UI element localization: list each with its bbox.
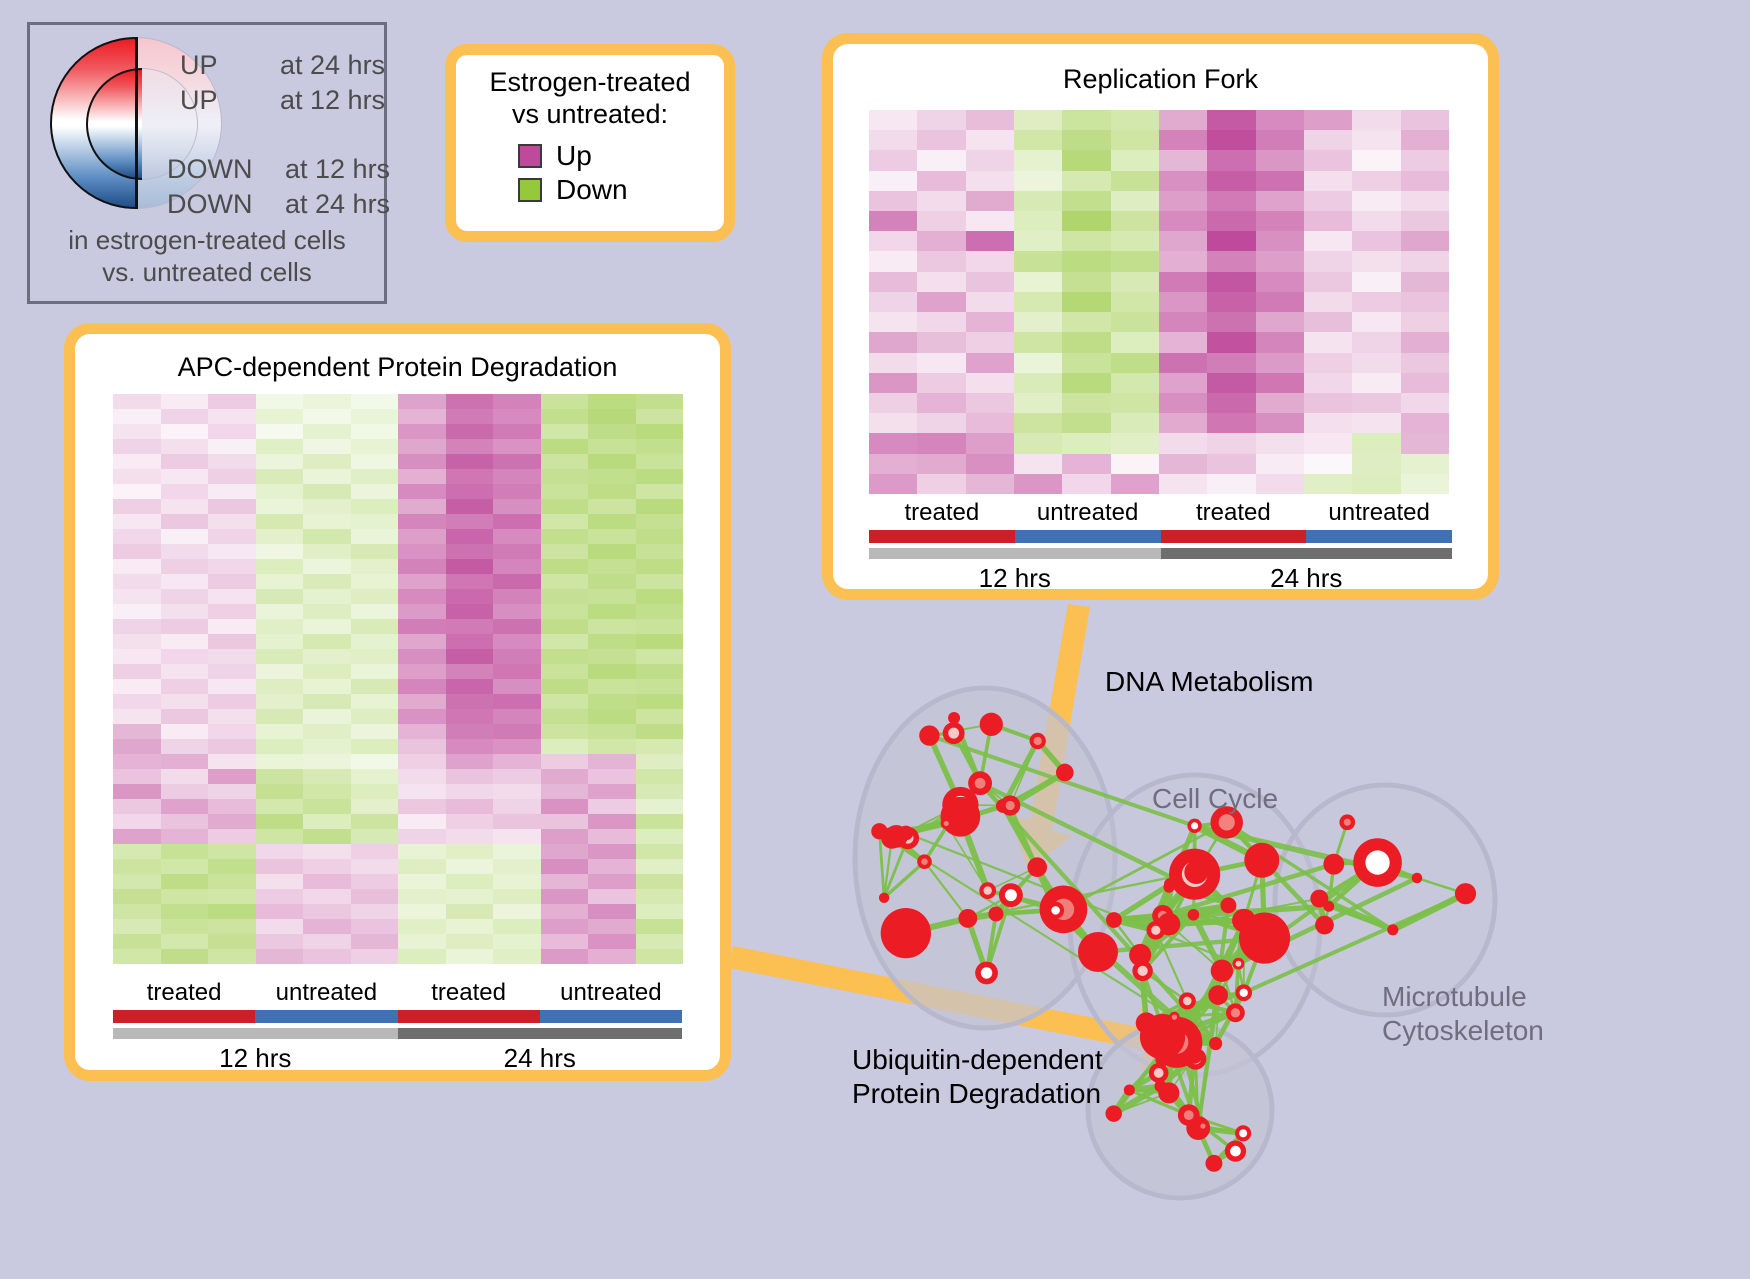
heatmap-cell [588,409,636,424]
heatmap-cell [161,769,209,784]
network-node-core [975,778,986,789]
network-node-core [1183,997,1192,1006]
heatmap-cell [351,844,399,859]
heatmap-cell [1256,110,1304,130]
heatmap-cell [541,949,589,964]
heatmap-cell [398,574,446,589]
heatmap-cell [256,499,304,514]
heatmap-cell [917,130,965,150]
heatmap-cell [161,634,209,649]
heatmap-cell [161,874,209,889]
heatmap-cell [541,859,589,874]
heatmap-cell [917,454,965,474]
heatmap-cell [541,814,589,829]
network-node-core [1344,819,1351,826]
heatmap-cell [1014,251,1062,271]
heatmap-cell [1062,312,1110,332]
heatmap-cell [1014,150,1062,170]
heatmap-cell [1352,231,1400,251]
heatmap-cell [1111,353,1159,373]
heatmap-cell [113,499,161,514]
heatmap-cell [303,559,351,574]
heatmap-cell [303,934,351,949]
heatmap-cell [588,559,636,574]
heatmap-cell [303,919,351,934]
heatmap-cell [256,694,304,709]
heatmap-cell [351,604,399,619]
heatmap-cell [303,889,351,904]
network-node-core [1184,1110,1194,1120]
heatmap-cell [256,424,304,439]
network-node [1154,1080,1166,1092]
heatmap-cell [1111,191,1159,211]
heatmap-cell [1111,251,1159,271]
heatmap-cell [398,604,446,619]
heatmap-cell [636,754,684,769]
heatmap-cell [1401,150,1449,170]
heatmap-cell [636,949,684,964]
down-label: Down [556,174,628,206]
heatmap-cell [303,694,351,709]
heatmap-cell [113,469,161,484]
network-node [1056,764,1074,782]
heatmap-cell [1207,433,1255,453]
heatmap-cell [208,949,256,964]
heatmap-cell [446,934,494,949]
heatmap-cell [869,251,917,271]
heatmap-cell [966,211,1014,231]
heatmap-cell [398,739,446,754]
heatmap-cell [869,191,917,211]
network-node [1315,916,1334,935]
network-node [1249,919,1268,938]
heatmap-cell [493,574,541,589]
heatmap-cell [113,439,161,454]
heatmap-cell [588,529,636,544]
expression-legend-title-line1: Estrogen-treated [456,67,724,99]
network-node-core [1137,966,1147,976]
apc-bar-12hrs [113,1028,398,1039]
heatmap-cell [398,619,446,634]
heatmap-cell [636,589,684,604]
heatmap-cell [398,859,446,874]
heatmap-cell [256,514,304,529]
heatmap-cell [351,694,399,709]
heatmap-cell [636,889,684,904]
heatmap-cell [541,904,589,919]
heatmap-cell [161,544,209,559]
heatmap-cell [966,171,1014,191]
rf-bar-12hrs [869,548,1161,559]
heatmap-cell [208,724,256,739]
heatmap-cell [1014,332,1062,352]
heatmap-cell [113,679,161,694]
heatmap-cell [161,829,209,844]
heatmap-cell [1207,272,1255,292]
heatmap-cell [636,604,684,619]
heatmap-cell [398,529,446,544]
heatmap-cell [113,694,161,709]
heatmap-cell [1401,474,1449,494]
heatmap-cell [869,353,917,373]
heatmap-cell [541,529,589,544]
cluster-label-cell-cycle: Cell Cycle [1152,783,1278,815]
network-node [1164,878,1176,890]
heatmap-cell [1256,130,1304,150]
heatmap-cell [113,484,161,499]
rf-group-label-3: untreated [1306,499,1452,527]
apc-bar-treated-24 [398,1010,540,1023]
heatmap-cell [1159,433,1207,453]
heatmap-cell [208,694,256,709]
heatmap-cell [1111,171,1159,191]
heatmap-cell [303,799,351,814]
heatmap-cell [398,409,446,424]
heatmap-cell [1062,413,1110,433]
rf-bar-24hrs [1161,548,1453,559]
heatmap-cell [1352,110,1400,130]
heatmap-cell [113,424,161,439]
heatmap-cell [1014,393,1062,413]
network-node-core [1235,961,1241,967]
heatmap-cell [208,439,256,454]
heatmap-cell [256,454,304,469]
heatmap-cell [1111,130,1159,150]
heatmap-cell [1014,353,1062,373]
heatmap-cell [588,694,636,709]
heatmap-cell [1256,474,1304,494]
heatmap-cell [1304,150,1352,170]
heatmap-cell [588,784,636,799]
heatmap-cell [541,784,589,799]
network-node-core [1006,801,1015,810]
heatmap-cell [351,649,399,664]
heatmap-cell [588,709,636,724]
heatmap-cell [588,394,636,409]
heatmap-cell [256,859,304,874]
heatmap-cell [113,619,161,634]
heatmap-cell [256,919,304,934]
heatmap-cell [1159,393,1207,413]
network-node-core [1239,1129,1247,1137]
rf-group-labels: treated untreated treated untreated [869,499,1452,527]
heatmap-cell [917,292,965,312]
heatmap-cell [1256,272,1304,292]
rf-time-labels: 12 hrs 24 hrs [869,563,1452,594]
heatmap-cell [1352,373,1400,393]
heatmap-cell [869,373,917,393]
heatmap-cell [541,694,589,709]
heatmap-cell [636,439,684,454]
heatmap-cell [1014,373,1062,393]
heatmap-cell [256,829,304,844]
network-node [1078,932,1118,972]
heatmap-cell [113,889,161,904]
network-node [1387,924,1398,935]
heatmap-cell [493,949,541,964]
heatmap-cell [303,709,351,724]
heatmap-cell [256,934,304,949]
heatmap-cell [398,844,446,859]
cluster-label-dna-metabolism: DNA Metabolism [1105,666,1314,698]
heatmap-cell [208,484,256,499]
heatmap-cell [541,889,589,904]
network-node-core [944,821,949,826]
heatmap-cell [917,251,965,271]
colorbar-row-2-direction: DOWN [167,154,252,185]
heatmap-cell [208,889,256,904]
heatmap-cell [636,619,684,634]
heatmap-cell [966,110,1014,130]
heatmap-cell [256,769,304,784]
network-node-core [1051,906,1060,915]
network-node [881,908,931,958]
heatmap-cell [161,394,209,409]
heatmap-cell [208,409,256,424]
heatmap-cell [966,312,1014,332]
heatmap-cell [303,544,351,559]
heatmap-cell [1111,332,1159,352]
heatmap-cell [1256,454,1304,474]
heatmap-cell [1014,191,1062,211]
heatmap-cell [1159,332,1207,352]
heatmap-cell [1159,110,1207,130]
heatmap-cell [256,784,304,799]
heatmap-cell [208,709,256,724]
heatmap-cell [1111,150,1159,170]
heatmap-cell [493,769,541,784]
heatmap-cell [541,709,589,724]
heatmap-cell [446,529,494,544]
heatmap-cell [1159,251,1207,271]
heatmap-cell [966,332,1014,352]
heatmap-cell [869,211,917,231]
up-label: Up [556,140,592,172]
heatmap-cell [588,769,636,784]
heatmap-cell [1111,110,1159,130]
heatmap-cell [161,919,209,934]
colorbar-row-3-direction: DOWN [167,189,252,220]
heatmap-cell [161,904,209,919]
apc-degradation-heatmap [113,394,683,964]
heatmap-cell [161,859,209,874]
heatmap-cell [869,413,917,433]
network-node [1310,890,1328,908]
heatmap-cell [303,634,351,649]
heatmap-cell [208,934,256,949]
heatmap-cell [351,784,399,799]
heatmap-cell [208,529,256,544]
heatmap-cell [1304,231,1352,251]
heatmap-cell [1401,130,1449,150]
heatmap-cell [161,694,209,709]
heatmap-cell [398,424,446,439]
heatmap-cell [493,499,541,514]
heatmap-cell [446,859,494,874]
heatmap-cell [636,814,684,829]
heatmap-cell [541,424,589,439]
heatmap-cell [256,844,304,859]
heatmap-cell [208,619,256,634]
heatmap-cell [588,439,636,454]
heatmap-cell [1207,312,1255,332]
apc-bar-treated-12 [113,1010,255,1023]
heatmap-cell [1352,171,1400,191]
heatmap-cell [161,754,209,769]
network-node [919,725,939,745]
heatmap-cell [1401,433,1449,453]
heatmap-cell [917,413,965,433]
heatmap-cell [917,474,965,494]
heatmap-cell [917,393,965,413]
heatmap-cell [351,634,399,649]
heatmap-cell [1256,373,1304,393]
network-node-core [921,858,928,865]
heatmap-cell [113,919,161,934]
heatmap-cell [869,433,917,453]
heatmap-cell [493,544,541,559]
heatmap-cell [398,484,446,499]
heatmap-cell [256,739,304,754]
heatmap-cell [966,150,1014,170]
heatmap-cell [1014,272,1062,292]
heatmap-cell [161,514,209,529]
rf-group-label-1: untreated [1015,499,1161,527]
heatmap-cell [161,814,209,829]
heatmap-cell [208,904,256,919]
heatmap-cell [1207,150,1255,170]
heatmap-cell [113,769,161,784]
heatmap-cell [588,679,636,694]
heatmap-cell [541,844,589,859]
heatmap-cell [636,844,684,859]
heatmap-cell [541,754,589,769]
network-node-core [1231,1008,1240,1017]
heatmap-cell [351,919,399,934]
heatmap-cell [1014,292,1062,312]
heatmap-cell [1207,332,1255,352]
heatmap-cell [161,619,209,634]
heatmap-cell [636,394,684,409]
heatmap-cell [161,679,209,694]
heatmap-cell [588,619,636,634]
heatmap-cell [113,514,161,529]
heatmap-cell [1207,171,1255,191]
heatmap-cell [636,514,684,529]
heatmap-cell [1062,130,1110,150]
network-node [980,713,1003,736]
heatmap-cell [113,574,161,589]
heatmap-cell [869,171,917,191]
heatmap-cell [541,739,589,754]
heatmap-cell [588,454,636,469]
heatmap-cell [398,889,446,904]
heatmap-cell [351,619,399,634]
heatmap-cell [588,889,636,904]
heatmap-cell [541,559,589,574]
heatmap-cell [1111,393,1159,413]
heatmap-cell [636,649,684,664]
heatmap-cell [493,679,541,694]
heatmap-cell [1111,211,1159,231]
heatmap-cell [1062,433,1110,453]
network-node-core [1005,889,1017,901]
heatmap-cell [636,934,684,949]
heatmap-cell [398,559,446,574]
heatmap-cell [1207,292,1255,312]
heatmap-cell [256,754,304,769]
heatmap-cell [303,424,351,439]
colorbar-row-2-time: at 12 hrs [285,154,390,185]
heatmap-cell [351,424,399,439]
heatmap-cell [208,769,256,784]
heatmap-cell [1014,231,1062,251]
heatmap-cell [636,784,684,799]
heatmap-cell [208,604,256,619]
heatmap-cell [588,799,636,814]
legend-item-down: Down [518,174,724,206]
heatmap-cell [446,694,494,709]
heatmap-cell [113,409,161,424]
heatmap-cell [636,799,684,814]
network-node-core [1240,989,1248,997]
heatmap-cell [1304,130,1352,150]
heatmap-cell [113,844,161,859]
heatmap-cell [1062,353,1110,373]
heatmap-cell [351,499,399,514]
heatmap-cell [208,679,256,694]
heatmap-cell [1062,332,1110,352]
heatmap-cell [588,604,636,619]
heatmap-cell [1256,251,1304,271]
heatmap-cell [1159,272,1207,292]
heatmap-cell [113,529,161,544]
heatmap-cell [1352,130,1400,150]
heatmap-cell [351,409,399,424]
heatmap-cell [256,544,304,559]
heatmap-cell [1207,393,1255,413]
heatmap-cell [1256,231,1304,251]
heatmap-cell [588,724,636,739]
heatmap-cell [303,484,351,499]
heatmap-cell [1014,413,1062,433]
network-node [1205,1155,1222,1172]
network-node [1106,912,1122,928]
heatmap-cell [541,619,589,634]
heatmap-cell [446,724,494,739]
heatmap-cell [1111,474,1159,494]
heatmap-cell [1304,110,1352,130]
heatmap-cell [636,709,684,724]
heatmap-cell [1352,454,1400,474]
heatmap-cell [1401,231,1449,251]
heatmap-cell [446,679,494,694]
heatmap-cell [1401,171,1449,191]
heatmap-cell [1207,373,1255,393]
heatmap-cell [917,433,965,453]
heatmap-cell [303,664,351,679]
heatmap-cell [869,312,917,332]
heatmap-cell [303,949,351,964]
heatmap-cell [208,799,256,814]
heatmap-cell [1256,191,1304,211]
heatmap-cell [541,589,589,604]
heatmap-cell [208,499,256,514]
heatmap-cell [1401,373,1449,393]
heatmap-cell [917,150,965,170]
heatmap-cell [303,724,351,739]
heatmap-cell [493,409,541,424]
